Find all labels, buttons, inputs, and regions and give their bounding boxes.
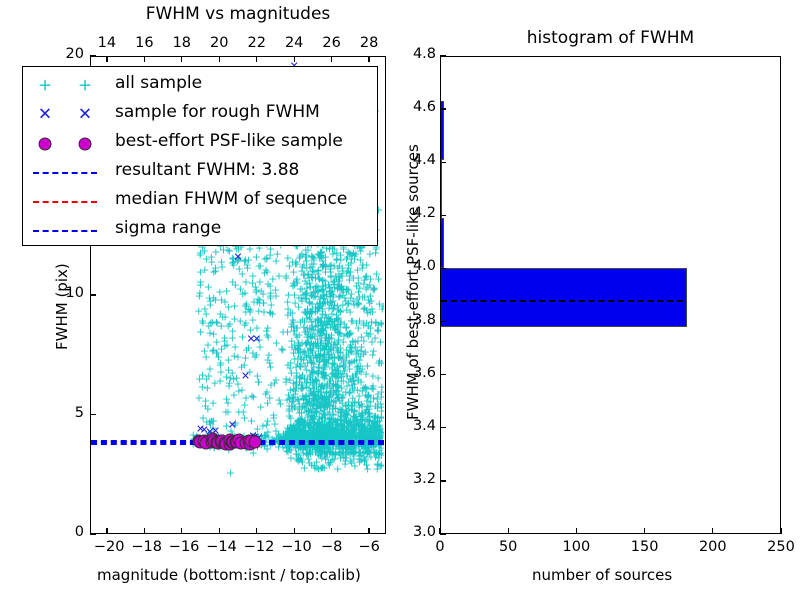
left-xtick-bottom: −16 bbox=[169, 539, 195, 555]
histogram-median-line bbox=[441, 300, 683, 302]
data-point-all-sample: + bbox=[223, 398, 232, 409]
data-point-all-sample: + bbox=[339, 451, 348, 462]
tick-mark bbox=[144, 528, 145, 534]
tick-mark bbox=[181, 56, 182, 62]
left-xlabel: magnitude (bottom:isnt / top:calib) bbox=[97, 566, 361, 584]
data-point-all-sample: + bbox=[290, 289, 299, 300]
cross-marker: ✕ bbox=[78, 107, 92, 124]
data-point-all-sample: + bbox=[318, 259, 327, 270]
right-xlabel: number of sources bbox=[532, 566, 672, 584]
left-xtick-top: 24 bbox=[283, 35, 305, 51]
data-point-all-sample: + bbox=[330, 315, 339, 326]
data-point-all-sample: + bbox=[356, 254, 365, 265]
left-ylabel: FWHM (pix) bbox=[53, 263, 71, 350]
legend-item-3[interactable]: best-effort PSF-like sample bbox=[23, 129, 377, 159]
left-ytick: 5 bbox=[58, 405, 84, 421]
data-point-all-sample: + bbox=[226, 468, 235, 479]
data-point-all-sample: + bbox=[205, 364, 214, 375]
data-point-all-sample: + bbox=[236, 283, 245, 294]
histogram-bar bbox=[441, 268, 686, 326]
legend-label: sigma range bbox=[115, 218, 221, 238]
tick-mark bbox=[90, 533, 96, 534]
data-point-all-sample: + bbox=[215, 287, 224, 298]
tick-mark bbox=[508, 528, 509, 534]
data-point-all-sample: + bbox=[240, 413, 249, 424]
tick-mark bbox=[106, 528, 107, 534]
right-xtick: 250 bbox=[761, 539, 800, 555]
left-xtick-top: 22 bbox=[246, 35, 268, 51]
cross-marker: ✕ bbox=[38, 107, 52, 124]
data-point-all-sample: + bbox=[294, 344, 303, 355]
left-panel-title: FWHM vs magnitudes bbox=[90, 4, 386, 24]
legend-marker-plus-marker: ++ bbox=[23, 71, 107, 101]
data-point-all-sample: + bbox=[229, 374, 238, 385]
plus-marker: + bbox=[78, 78, 92, 95]
left-ytick: 20 bbox=[58, 46, 84, 62]
dashdot-line bbox=[33, 230, 97, 232]
plus-marker: + bbox=[38, 78, 52, 95]
tick-mark bbox=[440, 108, 446, 109]
histogram-bar bbox=[441, 218, 444, 268]
legend-marker-dashed-line bbox=[23, 187, 107, 217]
legend-label: all sample bbox=[115, 73, 202, 93]
tick-mark bbox=[106, 56, 107, 62]
tick-mark bbox=[368, 528, 369, 534]
right-xtick: 150 bbox=[625, 539, 665, 555]
data-point-psf-like bbox=[249, 436, 262, 449]
tick-mark bbox=[144, 56, 145, 62]
tick-mark bbox=[294, 528, 295, 534]
right-xtick: 50 bbox=[488, 539, 528, 555]
right-ytick: 3.2 bbox=[398, 471, 436, 487]
data-point-all-sample: + bbox=[323, 401, 332, 412]
data-point-all-sample: + bbox=[283, 252, 292, 263]
data-point-all-sample: + bbox=[230, 314, 239, 325]
data-point-all-sample: + bbox=[336, 249, 345, 260]
data-point-all-sample: + bbox=[206, 300, 215, 311]
data-point-all-sample: + bbox=[361, 347, 370, 358]
data-point-all-sample: + bbox=[374, 453, 383, 464]
left-xtick-bottom: −6 bbox=[356, 539, 382, 555]
tick-mark bbox=[256, 56, 257, 62]
tick-mark bbox=[256, 528, 257, 534]
data-point-all-sample: + bbox=[264, 349, 273, 360]
tick-mark bbox=[440, 55, 446, 56]
data-point-all-sample: + bbox=[314, 463, 323, 474]
tick-mark bbox=[294, 56, 295, 62]
data-point-all-sample: + bbox=[368, 307, 377, 318]
tick-mark bbox=[712, 528, 713, 534]
figure-canvas: FWHM vs magnitudes +++++++++++++++++++++… bbox=[0, 0, 800, 600]
left-xtick-top: 14 bbox=[96, 35, 118, 51]
left-xtick-top: 26 bbox=[321, 35, 343, 51]
data-point-all-sample: + bbox=[266, 290, 275, 301]
tick-mark bbox=[219, 528, 220, 534]
right-ylabel: FWHM of best-effort PSF-like sources bbox=[404, 144, 422, 420]
right-xtick: 200 bbox=[693, 539, 733, 555]
data-point-all-sample: + bbox=[241, 352, 250, 363]
tick-mark bbox=[440, 374, 446, 375]
left-xtick-bottom: −12 bbox=[244, 539, 270, 555]
data-point-all-sample: + bbox=[359, 382, 368, 393]
legend-item-6[interactable]: sigma range bbox=[23, 216, 377, 246]
tick-mark bbox=[90, 294, 96, 295]
data-point-all-sample: + bbox=[262, 386, 271, 397]
legend-item-5[interactable]: median FHWM of sequence bbox=[23, 187, 377, 217]
data-point-all-sample: + bbox=[374, 274, 383, 285]
dashed-line bbox=[33, 201, 97, 203]
legend-label: sample for rough FWHM bbox=[115, 102, 320, 122]
data-point-all-sample: + bbox=[316, 316, 325, 327]
tick-mark bbox=[440, 321, 446, 322]
data-point-all-sample: + bbox=[373, 324, 382, 335]
data-point-all-sample: + bbox=[363, 401, 372, 412]
data-point-all-sample: + bbox=[241, 318, 250, 329]
circle-marker bbox=[39, 138, 52, 151]
data-point-all-sample: + bbox=[353, 363, 362, 374]
tick-mark bbox=[780, 528, 781, 534]
data-point-all-sample: + bbox=[284, 401, 293, 412]
legend-item-4[interactable]: resultant FWHM: 3.88 bbox=[23, 158, 377, 188]
data-point-all-sample: + bbox=[210, 378, 219, 389]
data-point-all-sample: + bbox=[327, 348, 336, 359]
data-point-all-sample: + bbox=[335, 328, 344, 339]
legend-label: median FHWM of sequence bbox=[115, 189, 347, 209]
data-point-all-sample: + bbox=[330, 369, 339, 380]
data-point-all-sample: + bbox=[248, 278, 257, 289]
data-point-all-sample: + bbox=[201, 401, 210, 412]
dashed-line bbox=[33, 172, 97, 174]
histogram-bar bbox=[441, 160, 442, 218]
data-point-all-sample: + bbox=[350, 460, 359, 471]
data-point-all-sample: + bbox=[250, 351, 259, 362]
legend-marker-dashed-line bbox=[23, 158, 107, 188]
data-point-all-sample: + bbox=[329, 277, 338, 288]
data-point-all-sample: + bbox=[289, 321, 298, 332]
data-point-all-sample: + bbox=[366, 273, 375, 284]
data-point-all-sample: + bbox=[313, 334, 322, 345]
data-point-all-sample: + bbox=[272, 337, 281, 348]
data-point-all-sample: + bbox=[245, 306, 254, 317]
left-xtick-bottom: −14 bbox=[206, 539, 232, 555]
data-point-all-sample: + bbox=[373, 416, 382, 427]
tick-mark bbox=[440, 215, 446, 216]
data-point-all-sample: + bbox=[212, 348, 221, 359]
data-point-all-sample: + bbox=[354, 323, 363, 334]
left-xtick-top: 28 bbox=[358, 35, 380, 51]
right-ytick: 3.0 bbox=[398, 524, 436, 540]
legend-label: resultant FWHM: 3.88 bbox=[115, 160, 299, 180]
circle-marker bbox=[79, 138, 92, 151]
tick-mark bbox=[90, 414, 96, 415]
tick-mark bbox=[440, 480, 446, 481]
data-point-all-sample: + bbox=[253, 294, 262, 305]
data-point-rough-fwhm: ✕ bbox=[228, 420, 237, 431]
data-point-all-sample: + bbox=[306, 262, 315, 273]
tick-mark bbox=[331, 56, 332, 62]
left-xtick-bottom: −20 bbox=[94, 539, 120, 555]
legend-item-2[interactable]: ✕✕sample for rough FWHM bbox=[23, 100, 377, 130]
legend-marker-dashdot-line bbox=[23, 216, 107, 246]
data-point-all-sample: + bbox=[348, 382, 357, 393]
tick-mark bbox=[219, 56, 220, 62]
data-point-all-sample: + bbox=[218, 261, 227, 272]
tick-mark bbox=[440, 162, 446, 163]
legend-label: best-effort PSF-like sample bbox=[115, 131, 343, 151]
data-point-all-sample: + bbox=[350, 300, 359, 311]
tick-mark bbox=[440, 427, 446, 428]
data-point-all-sample: + bbox=[369, 383, 378, 394]
tick-mark bbox=[90, 55, 96, 56]
tick-mark bbox=[440, 268, 446, 269]
data-point-all-sample: + bbox=[317, 369, 326, 380]
data-point-all-sample: + bbox=[274, 270, 283, 281]
tick-mark bbox=[331, 528, 332, 534]
data-point-all-sample: + bbox=[230, 351, 239, 362]
tick-mark bbox=[368, 56, 369, 62]
data-point-all-sample: + bbox=[346, 267, 355, 278]
data-point-all-sample: + bbox=[312, 406, 321, 417]
left-xtick-bottom: −10 bbox=[281, 539, 307, 555]
data-point-all-sample: + bbox=[196, 266, 205, 277]
tick-mark bbox=[576, 528, 577, 534]
data-point-all-sample: + bbox=[332, 389, 341, 400]
data-point-all-sample: + bbox=[328, 449, 337, 460]
tick-mark bbox=[440, 533, 446, 534]
data-point-all-sample: + bbox=[286, 357, 295, 368]
data-point-all-sample: + bbox=[348, 336, 357, 347]
data-point-all-sample: + bbox=[292, 259, 301, 270]
data-point-all-sample: + bbox=[274, 395, 283, 406]
data-point-all-sample: + bbox=[281, 376, 290, 387]
data-point-all-sample: + bbox=[364, 320, 373, 331]
left-xtick-top: 16 bbox=[133, 35, 155, 51]
tick-mark bbox=[644, 528, 645, 534]
data-point-all-sample: + bbox=[379, 300, 385, 311]
data-point-all-sample: + bbox=[315, 294, 324, 305]
data-point-rough-fwhm: ✕ bbox=[233, 251, 242, 262]
right-xtick: 100 bbox=[556, 539, 596, 555]
data-point-all-sample: + bbox=[366, 291, 375, 302]
data-point-all-sample: + bbox=[196, 326, 205, 337]
data-point-all-sample: + bbox=[240, 399, 249, 410]
data-point-rough-fwhm: ✕ bbox=[252, 334, 261, 345]
right-panel-title: histogram of FWHM bbox=[440, 28, 781, 48]
histogram-plot-area bbox=[441, 57, 779, 532]
left-xtick-bottom: −8 bbox=[319, 539, 345, 555]
data-point-all-sample: + bbox=[269, 409, 278, 420]
left-xtick-top: 20 bbox=[208, 35, 230, 51]
left-ytick: 0 bbox=[58, 524, 84, 540]
left-xtick-bottom: −18 bbox=[131, 539, 157, 555]
data-point-all-sample: + bbox=[220, 336, 229, 347]
right-xtick: 0 bbox=[420, 539, 460, 555]
data-point-all-sample: + bbox=[298, 382, 307, 393]
legend-item-1[interactable]: ++all sample bbox=[23, 71, 377, 101]
right-ytick: 4.8 bbox=[398, 46, 436, 62]
data-point-all-sample: + bbox=[261, 264, 270, 275]
data-point-all-sample: + bbox=[304, 447, 313, 458]
legend: ++all sample✕✕sample for rough FWHMbest-… bbox=[22, 66, 378, 246]
data-point-rough-fwhm: ✕ bbox=[241, 371, 250, 382]
data-point-all-sample: + bbox=[301, 306, 310, 317]
right-ytick: 4.6 bbox=[398, 99, 436, 115]
legend-marker-circle-marker bbox=[23, 129, 107, 159]
data-point-all-sample: + bbox=[209, 267, 218, 278]
data-point-all-sample: + bbox=[230, 301, 239, 312]
data-point-all-sample: + bbox=[376, 337, 385, 348]
tick-mark bbox=[181, 528, 182, 534]
right-ytick: 3.4 bbox=[398, 418, 436, 434]
legend-marker-cross-marker: ✕✕ bbox=[23, 100, 107, 130]
left-xtick-top: 18 bbox=[171, 35, 193, 51]
histogram-bar bbox=[441, 101, 444, 159]
data-point-all-sample: + bbox=[195, 291, 204, 302]
data-point-all-sample: + bbox=[377, 391, 385, 402]
